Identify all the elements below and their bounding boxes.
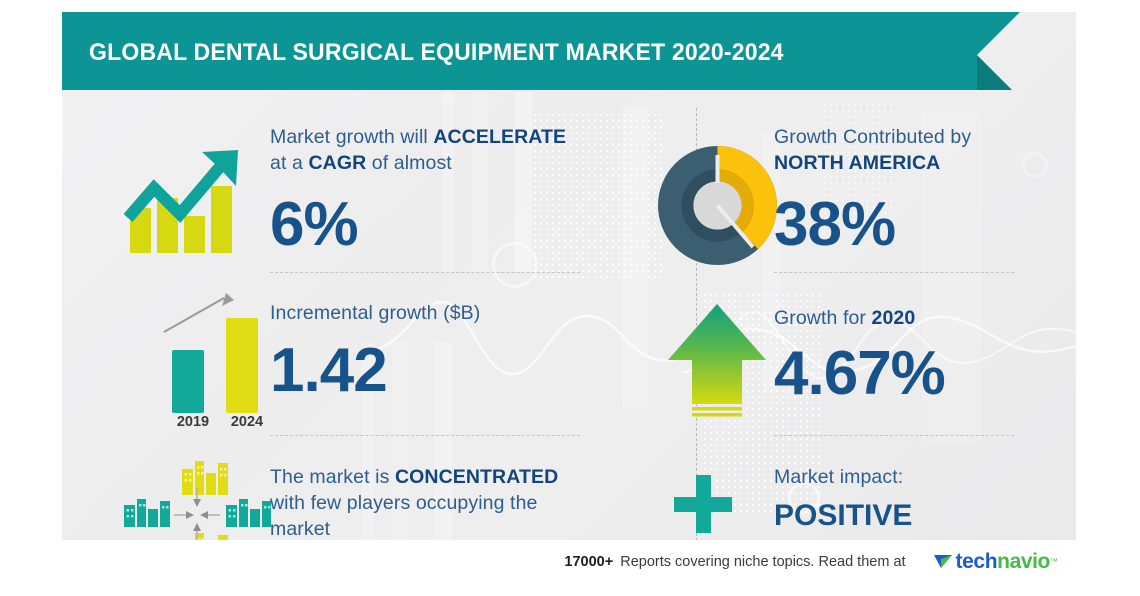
- north-america-text-block: Growth Contributed by NORTH AMERICA 38%: [774, 124, 1076, 260]
- plus-icon: [666, 467, 746, 547]
- cagr-lead-plain-2b: of almost: [366, 152, 452, 174]
- market-impact-value: POSITIVE: [774, 496, 1076, 536]
- incremental-growth-text-block: Incremental growth ($B) 1.42: [270, 300, 670, 406]
- bar-label-2024: 2024: [226, 414, 268, 430]
- growth-2020-plain: Growth for: [774, 307, 872, 329]
- cagr-lead-bold-accelerate: ACCELERATE: [433, 126, 566, 148]
- concentration-line3: market: [270, 516, 665, 542]
- growth-2020-label: Growth for 2020: [774, 305, 1076, 331]
- growth-2020-value: 4.67%: [774, 339, 1076, 409]
- cagr-lead-bold-cagr: CAGR: [308, 152, 366, 174]
- concentration-text-block: The market is CONCENTRATED with few play…: [270, 464, 665, 542]
- left-divider-1: [270, 272, 580, 273]
- north-america-value: 38%: [774, 190, 1076, 260]
- two-bar-comparison-icon: [116, 290, 266, 430]
- right-divider-2: [774, 435, 1014, 436]
- growth-2020-bold-year: 2020: [872, 307, 916, 329]
- cagr-lead-line1: Market growth will ACCELERATE: [270, 124, 670, 150]
- cagr-lead-line2: at a CAGR of almost: [270, 150, 670, 176]
- cagr-value: 6%: [270, 190, 670, 260]
- cagr-text-block: Market growth will ACCELERATE at a CAGR …: [270, 124, 670, 260]
- trademark-icon: ™: [1050, 557, 1058, 566]
- north-america-label-line2: NORTH AMERICA: [774, 150, 1076, 176]
- donut-chart-icon: [655, 143, 780, 268]
- market-impact-text-block: Market impact: POSITIVE: [774, 464, 1076, 536]
- footer-report-count: 17000+: [564, 554, 613, 570]
- cagr-lead-plain-2a: at a: [270, 152, 308, 174]
- growth-2020-text-block: Growth for 2020 4.67%: [774, 305, 1076, 409]
- concentration-line1: The market is CONCENTRATED: [270, 464, 665, 490]
- incremental-growth-label: Incremental growth ($B): [270, 300, 670, 326]
- technavio-logo[interactable]: tech navio ™: [932, 550, 1058, 574]
- header-banner: GLOBAL DENTAL SURGICAL EQUIPMENT MARKET …: [62, 12, 977, 90]
- right-divider-1: [774, 272, 1014, 273]
- technavio-logo-tech: tech: [956, 550, 998, 574]
- market-impact-label: Market impact:: [774, 464, 1076, 490]
- north-america-label-line1: Growth Contributed by: [774, 124, 1076, 150]
- left-divider-2: [270, 435, 580, 436]
- growth-bar-chart-arrow-icon: [124, 136, 254, 261]
- north-america-bold: NORTH AMERICA: [774, 152, 940, 174]
- technavio-logo-navio: navio: [997, 550, 1050, 574]
- concentration-bold-concentrated: CONCENTRATED: [395, 466, 558, 488]
- infographic-canvas: GLOBAL DENTAL SURGICAL EQUIPMENT MARKET …: [0, 0, 1140, 596]
- up-arrow-icon: [660, 300, 775, 425]
- incremental-growth-value: 1.42: [270, 336, 670, 406]
- banner-fold-shadow: [977, 55, 1012, 90]
- bar-label-2019: 2019: [172, 414, 214, 430]
- technavio-arrow-icon: [932, 551, 954, 573]
- concentration-line2: with few players occupying the: [270, 490, 665, 516]
- footer-bar: 17000+ Reports covering niche topics. Re…: [62, 540, 1076, 583]
- footer-text: Reports covering niche topics. Read them…: [620, 554, 905, 570]
- page-title: GLOBAL DENTAL SURGICAL EQUIPMENT MARKET …: [89, 39, 784, 67]
- infographic-card: GLOBAL DENTAL SURGICAL EQUIPMENT MARKET …: [62, 12, 1076, 583]
- concentration-plain-1: The market is: [270, 466, 395, 488]
- banner-fold-top: [977, 12, 1020, 55]
- cagr-lead-plain-1: Market growth will: [270, 126, 433, 148]
